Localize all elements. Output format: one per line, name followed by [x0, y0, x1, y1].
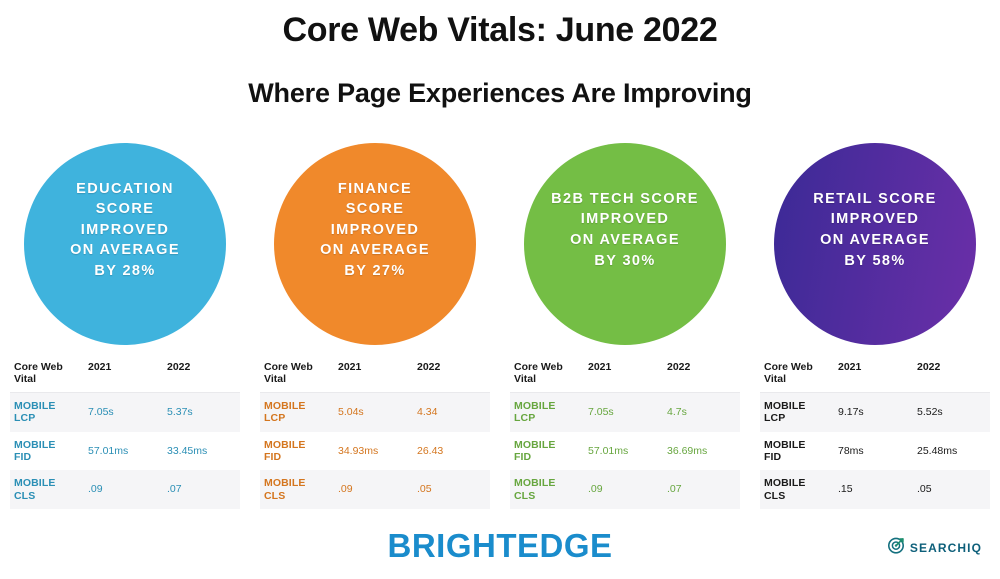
metric-label-line1: MOBILE	[514, 400, 555, 412]
value-2022: 4.7s	[661, 392, 740, 431]
value-2021: 5.04s	[332, 392, 411, 431]
table-header-row: Core Web Vital 2021 2022	[510, 359, 740, 392]
value-2022: 26.43	[411, 432, 490, 471]
table-header: Core Web Vital 2021 2022	[10, 359, 240, 392]
metric-label-line2: CLS	[264, 490, 285, 502]
column-finance: FINANCE SCORE IMPROVED ON AVERAGE BY 27%…	[250, 143, 500, 509]
metric-label-line1: MOBILE	[514, 439, 555, 451]
circle-line: BY 30%	[528, 251, 722, 272]
searchiq-wordmark: SEARCHIQ	[910, 541, 982, 555]
column-header-2022: 2022	[411, 359, 490, 392]
table-header-row: Core Web Vital 2021 2022	[10, 359, 240, 392]
vitals-table-b2b-tech: Core Web Vital 2021 2022 MOBILE LCP 7.05…	[510, 359, 740, 509]
column-header-metric: Core Web Vital	[510, 359, 582, 392]
column-education: EDUCATION SCORE IMPROVED ON AVERAGE BY 2…	[0, 143, 250, 509]
metric-label-line1: MOBILE	[14, 400, 55, 412]
footer: BRIGHTEDGE SEARCHIQ	[0, 517, 1000, 579]
column-header-2021: 2021	[82, 359, 161, 392]
vitals-table-finance: Core Web Vital 2021 2022 MOBILE LCP 5.04…	[260, 359, 490, 509]
table-body: MOBILE LCP 5.04s 4.34 MOBILE FID 34.93ms…	[260, 392, 490, 509]
value-2021: 34.93ms	[332, 432, 411, 471]
table-body: MOBILE LCP 7.05s 5.37s MOBILE FID 57.01m…	[10, 392, 240, 509]
metric-label-line1: MOBILE	[764, 477, 805, 489]
circle-line: BY 58%	[778, 251, 972, 272]
table-body: MOBILE LCP 9.17s 5.52s MOBILE FID 78ms 2…	[760, 392, 990, 509]
table-row: MOBILE CLS .09 .07	[10, 470, 240, 509]
column-b2b-tech: B2B TECH SCORE IMPROVED ON AVERAGE BY 30…	[500, 143, 750, 509]
column-header-2022: 2022	[161, 359, 240, 392]
value-2022: .05	[911, 470, 990, 509]
column-header-metric-line2: Vital	[264, 373, 286, 385]
vitals-table-retail: Core Web Vital 2021 2022 MOBILE LCP 9.17…	[760, 359, 990, 509]
metric-label: MOBILE LCP	[510, 392, 582, 431]
table-row: MOBILE LCP 5.04s 4.34	[260, 392, 490, 431]
column-header-metric-line1: Core Web	[14, 361, 63, 373]
value-2022: 4.34	[411, 392, 490, 431]
metric-label-line2: CLS	[514, 490, 535, 502]
circle-line: SCORE	[28, 199, 222, 220]
table-row: MOBILE CLS .09 .07	[510, 470, 740, 509]
circle-line: SCORE	[278, 199, 472, 220]
column-header-metric: Core Web Vital	[10, 359, 82, 392]
circle-line: BY 27%	[278, 261, 472, 282]
circle-line: RETAIL SCORE	[778, 189, 972, 210]
value-2022: .05	[411, 470, 490, 509]
brightedge-logo: BRIGHTEDGE	[0, 527, 1000, 565]
circle-line: ON AVERAGE	[278, 240, 472, 261]
circle-line: ON AVERAGE	[528, 230, 722, 251]
page-subtitle: Where Page Experiences Are Improving	[0, 79, 1000, 109]
stat-circle-b2b-tech-text: B2B TECH SCORE IMPROVED ON AVERAGE BY 30…	[528, 189, 722, 299]
value-2021: 57.01ms	[82, 432, 161, 471]
metric-label-line1: MOBILE	[14, 439, 55, 451]
table-header: Core Web Vital 2021 2022	[510, 359, 740, 392]
table-body: MOBILE LCP 7.05s 4.7s MOBILE FID 57.01ms…	[510, 392, 740, 509]
value-2022: .07	[161, 470, 240, 509]
value-2021: .09	[582, 470, 661, 509]
metric-label: MOBILE FID	[260, 432, 332, 471]
circle-wrap-retail: RETAIL SCORE IMPROVED ON AVERAGE BY 58%	[750, 143, 1000, 359]
table-row: MOBILE LCP 7.05s 5.37s	[10, 392, 240, 431]
metric-label-line1: MOBILE	[514, 477, 555, 489]
circle-line: EDUCATION	[28, 179, 222, 200]
column-header-metric-line2: Vital	[764, 373, 786, 385]
value-2021: 78ms	[832, 432, 911, 471]
value-2021: 57.01ms	[582, 432, 661, 471]
table-row: MOBILE LCP 9.17s 5.52s	[760, 392, 990, 431]
value-2022: 25.48ms	[911, 432, 990, 471]
metric-label-line2: FID	[764, 451, 781, 463]
stat-circle-education-text: EDUCATION SCORE IMPROVED ON AVERAGE BY 2…	[28, 179, 222, 310]
table-row: MOBILE FID 34.93ms 26.43	[260, 432, 490, 471]
column-header-2021: 2021	[832, 359, 911, 392]
value-2021: 7.05s	[82, 392, 161, 431]
column-header-metric: Core Web Vital	[760, 359, 832, 392]
stat-circle-education: EDUCATION SCORE IMPROVED ON AVERAGE BY 2…	[24, 143, 226, 345]
metric-label-line2: LCP	[14, 412, 35, 424]
table-row: MOBILE FID 57.01ms 33.45ms	[10, 432, 240, 471]
table-row: MOBILE LCP 7.05s 4.7s	[510, 392, 740, 431]
column-header-metric: Core Web Vital	[260, 359, 332, 392]
column-header-2021: 2021	[582, 359, 661, 392]
metric-label-line2: CLS	[764, 490, 785, 502]
value-2021: .09	[332, 470, 411, 509]
stat-circle-b2b-tech: B2B TECH SCORE IMPROVED ON AVERAGE BY 30…	[524, 143, 726, 345]
metric-label-line2: CLS	[14, 490, 35, 502]
circle-wrap-education: EDUCATION SCORE IMPROVED ON AVERAGE BY 2…	[0, 143, 250, 359]
column-header-metric-line2: Vital	[514, 373, 536, 385]
page-title: Core Web Vitals: June 2022	[0, 12, 1000, 49]
metric-label-line1: MOBILE	[764, 400, 805, 412]
value-2021: .09	[82, 470, 161, 509]
column-header-2022: 2022	[661, 359, 740, 392]
metric-label: MOBILE FID	[760, 432, 832, 471]
metric-label: MOBILE CLS	[10, 470, 82, 509]
table-header: Core Web Vital 2021 2022	[260, 359, 490, 392]
metric-label: MOBILE LCP	[760, 392, 832, 431]
value-2022: .07	[661, 470, 740, 509]
circle-wrap-finance: FINANCE SCORE IMPROVED ON AVERAGE BY 27%	[250, 143, 500, 359]
searchiq-logo: SEARCHIQ	[888, 537, 982, 559]
stat-circle-retail: RETAIL SCORE IMPROVED ON AVERAGE BY 58%	[774, 143, 976, 345]
table-row: MOBILE CLS .15 .05	[760, 470, 990, 509]
value-2022: 33.45ms	[161, 432, 240, 471]
circle-line: IMPROVED	[28, 220, 222, 241]
circle-line: ON AVERAGE	[778, 230, 972, 251]
column-header-metric-line1: Core Web	[514, 361, 563, 373]
value-2021: .15	[832, 470, 911, 509]
table-header-row: Core Web Vital 2021 2022	[760, 359, 990, 392]
metric-label: MOBILE FID	[10, 432, 82, 471]
searchiq-target-swirl-icon	[888, 537, 905, 559]
metric-label-line1: MOBILE	[264, 477, 305, 489]
column-header-metric-line1: Core Web	[264, 361, 313, 373]
circle-wrap-b2b-tech: B2B TECH SCORE IMPROVED ON AVERAGE BY 30…	[500, 143, 750, 359]
vitals-columns: EDUCATION SCORE IMPROVED ON AVERAGE BY 2…	[0, 143, 1000, 509]
metric-label-line2: LCP	[514, 412, 535, 424]
column-retail: RETAIL SCORE IMPROVED ON AVERAGE BY 58% …	[750, 143, 1000, 509]
metric-label-line2: FID	[264, 451, 281, 463]
metric-label: MOBILE LCP	[260, 392, 332, 431]
metric-label-line1: MOBILE	[764, 439, 805, 451]
vitals-table-education: Core Web Vital 2021 2022 MOBILE LCP 7.05…	[10, 359, 240, 509]
metric-label-line2: FID	[14, 451, 31, 463]
stat-circle-finance: FINANCE SCORE IMPROVED ON AVERAGE BY 27%	[274, 143, 476, 345]
metric-label: MOBILE CLS	[760, 470, 832, 509]
value-2021: 7.05s	[582, 392, 661, 431]
circle-line: IMPROVED	[278, 220, 472, 241]
metric-label-line1: MOBILE	[264, 400, 305, 412]
circle-line: ON AVERAGE	[28, 240, 222, 261]
metric-label-line2: LCP	[764, 412, 785, 424]
metric-label-line1: MOBILE	[264, 439, 305, 451]
metric-label: MOBILE CLS	[510, 470, 582, 509]
value-2022: 36.69ms	[661, 432, 740, 471]
circle-line: FINANCE	[278, 179, 472, 200]
circle-line: IMPROVED	[778, 209, 972, 230]
value-2022: 5.52s	[911, 392, 990, 431]
stat-circle-finance-text: FINANCE SCORE IMPROVED ON AVERAGE BY 27%	[278, 179, 472, 310]
metric-label: MOBILE LCP	[10, 392, 82, 431]
header-block: Core Web Vitals: June 2022 Where Page Ex…	[0, 0, 1000, 109]
circle-line: IMPROVED	[528, 209, 722, 230]
circle-line: B2B TECH SCORE	[528, 189, 722, 210]
metric-label-line2: FID	[514, 451, 531, 463]
table-header: Core Web Vital 2021 2022	[760, 359, 990, 392]
column-header-metric-line1: Core Web	[764, 361, 813, 373]
value-2021: 9.17s	[832, 392, 911, 431]
metric-label: MOBILE FID	[510, 432, 582, 471]
metric-label-line2: LCP	[264, 412, 285, 424]
table-row: MOBILE CLS .09 .05	[260, 470, 490, 509]
circle-line: BY 28%	[28, 261, 222, 282]
column-header-2022: 2022	[911, 359, 990, 392]
metric-label-line1: MOBILE	[14, 477, 55, 489]
value-2022: 5.37s	[161, 392, 240, 431]
table-row: MOBILE FID 57.01ms 36.69ms	[510, 432, 740, 471]
column-header-2021: 2021	[332, 359, 411, 392]
stat-circle-retail-text: RETAIL SCORE IMPROVED ON AVERAGE BY 58%	[778, 189, 972, 299]
metric-label: MOBILE CLS	[260, 470, 332, 509]
column-header-metric-line2: Vital	[14, 373, 36, 385]
table-header-row: Core Web Vital 2021 2022	[260, 359, 490, 392]
table-row: MOBILE FID 78ms 25.48ms	[760, 432, 990, 471]
